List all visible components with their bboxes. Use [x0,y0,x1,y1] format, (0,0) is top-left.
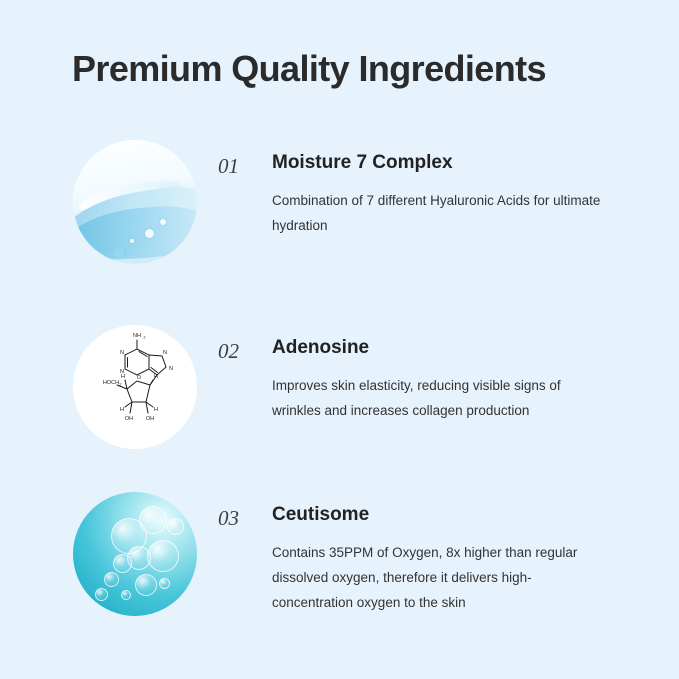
svg-text:H: H [154,374,158,380]
svg-text:H: H [121,374,125,380]
svg-text:2: 2 [119,382,122,387]
svg-text:2: 2 [143,335,146,340]
page-title: Premium Quality Ingredients [72,48,546,90]
ingredient-description-2: Improves skin elasticity, reducing visib… [272,373,602,423]
svg-text:N: N [169,366,173,372]
svg-text:O: O [137,375,142,381]
molecule-icon: NH2 N N N N HOCH2 O H H H H OH OH [73,325,197,449]
adenosine-molecule-diagram: NH2 N N N N HOCH2 O H H H H OH OH [73,325,197,449]
ingredient-name-2: Adenosine [272,337,369,359]
svg-text:H: H [120,407,124,413]
svg-text:OH: OH [125,416,133,422]
ingredient-name-1: Moisture 7 Complex [272,152,453,174]
ingredient-number-2: 02 [218,339,239,364]
ingredients-infographic: Premium Quality Ingredients 01 Moisture … [0,0,679,679]
ingredient-description-1: Combination of 7 different Hyaluronic Ac… [272,188,602,238]
svg-text:OH: OH [146,416,154,422]
svg-text:N: N [163,350,167,356]
svg-text:H: H [154,407,158,413]
ingredient-name-3: Ceutisome [272,504,369,526]
svg-text:HOCH: HOCH [103,380,119,386]
water-wave-photo [73,140,197,264]
ingredient-description-3: Contains 35PPM of Oxygen, 8x higher than… [272,540,602,615]
ingredient-number-3: 03 [218,506,239,531]
oxygen-bubbles-photo [73,492,197,616]
svg-text:NH: NH [133,333,141,339]
ingredient-number-1: 01 [218,154,239,179]
svg-text:N: N [120,350,124,356]
